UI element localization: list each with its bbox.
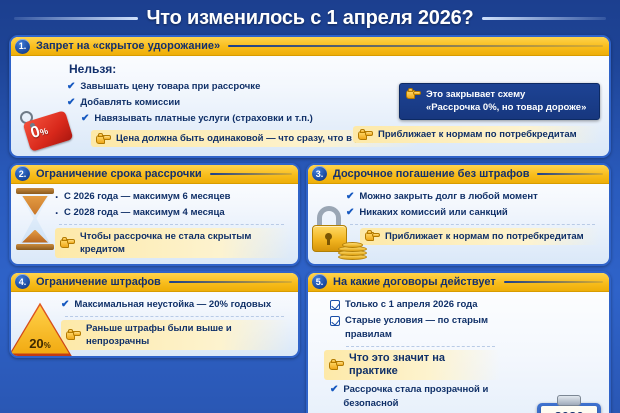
check-icon: ✔ (330, 383, 338, 397)
list-item-label: Максимальная неустойка — 20% годовых (74, 298, 290, 312)
check-icon: ✔ (346, 190, 354, 204)
section-4-divider (65, 316, 284, 317)
list-item: ✔ Можно закрыть долг в любой момент (346, 189, 601, 205)
section-2-tip: Чтобы рассрочка не стала скрытым кредито… (55, 228, 290, 258)
section-3-tip: Приближает к нормам по потребкредитам (360, 228, 600, 245)
section-3-divider (350, 224, 595, 225)
section-panel-5: 5. На какие договоры действует Только с … (306, 271, 611, 413)
page-title-bar: Что изменилось с 1 апреля 2026? (0, 2, 620, 35)
clipboard-year-label: 2026 (541, 409, 597, 413)
hourglass-icon (13, 188, 57, 250)
section-5-divider (346, 346, 495, 347)
section-body-1: Нельзя: ✔ Завышать цену товара при расср… (11, 56, 609, 156)
section-1-callout-tip: Приближает к нормам по потребкредитам (353, 126, 600, 143)
section-5-tip-label: Что это значит на практике (349, 352, 485, 378)
section-number-4: 4. (15, 274, 30, 289)
check-icon: ✔ (81, 112, 89, 126)
list-item-label: С 2028 года — максимум 4 месяца (64, 206, 290, 220)
section-title-5: На какие договоры действует (333, 276, 496, 288)
section-header-5: 5. На какие договоры действует (308, 273, 609, 292)
section-header-3: 3. Досрочное погашение без штрафов (308, 165, 609, 184)
list-item-label: Только с 1 апреля 2026 года (345, 298, 501, 312)
callout-text: Это закрывает схему «Рассрочка 0%, но то… (426, 88, 586, 114)
section-2-divider (59, 224, 284, 225)
section-1-lead: Нельзя: (69, 62, 601, 76)
pointing-hand-icon (60, 237, 75, 249)
section-3-tip-label: Приближает к нормам по потребкредитам (385, 230, 584, 243)
pointing-hand-icon (406, 88, 421, 100)
list-item: · С 2028 года — максимум 4 месяца (55, 205, 290, 221)
check-icon: ✔ (67, 96, 75, 110)
section-panel-3: 3. Досрочное погашение без штрафов ✔ Мо (306, 163, 611, 266)
callout-line-1: Это закрывает схему (426, 89, 525, 100)
section-number-1: 1. (15, 39, 30, 54)
section-5-tip: Что это значит на практике (324, 350, 501, 380)
section-4-tip-label: Раньше штрафы были выше и непрозрачны (86, 322, 274, 348)
section-number-3: 3. (312, 166, 327, 181)
section-number-2: 2. (15, 166, 30, 181)
row-3: 4. Ограничение штрафов 20% ✔ Максимальна… (9, 271, 611, 413)
row-2: 2. Ограничение срока рассрочки · С 2026 … (9, 163, 611, 266)
checkbox-icon (330, 300, 340, 310)
price-tag-icon: 0% (15, 108, 79, 154)
section-title-2: Ограничение срока рассрочки (36, 168, 202, 180)
row-1: 1. Запрет на «скрытое удорожание» Нельзя… (9, 35, 611, 158)
title-rule-right (482, 17, 606, 20)
section-header-2: 2. Ограничение срока рассрочки (11, 165, 298, 184)
section-title-3: Досрочное погашение без штрафов (333, 168, 529, 180)
list-item-label: Рассрочка стала прозрачной и безопасной (343, 383, 501, 411)
list-item-label: Старые условия — по старым правилам (345, 314, 501, 342)
section-body-5: Только с 1 апреля 2026 года Старые услов… (308, 292, 609, 413)
list-item: Старые условия — по старым правилам (330, 313, 501, 343)
section-rule-5 (504, 281, 603, 283)
section-4-tip: Раньше штрафы были выше и непрозрачны (61, 320, 290, 350)
list-item-label: С 2026 года — максимум 6 месяцев (64, 190, 290, 204)
pointing-hand-icon (329, 359, 344, 371)
section-header-1: 1. Запрет на «скрытое удорожание» (11, 37, 609, 56)
list-item: ✔ Рассрочка стала прозрачной и безопасно… (330, 382, 501, 412)
callout-line-2: «Рассрочка 0%, но товар дороже» (426, 101, 586, 114)
clipboard-paper: 2026 (541, 406, 597, 413)
title-rule-left (14, 17, 138, 20)
section-rule-2 (210, 173, 292, 175)
warning-unit: % (44, 341, 51, 350)
warning-value: 20 (29, 336, 43, 351)
section-rule-4 (169, 281, 292, 283)
clipboard-clamp (557, 395, 581, 406)
section-2-tip-label: Чтобы рассрочка не стала скрытым кредито… (80, 230, 274, 256)
pointing-hand-icon (358, 129, 373, 141)
price-tag-value: 0 (29, 123, 42, 142)
pointing-hand-icon (365, 230, 380, 242)
section-body-2: · С 2026 года — максимум 6 месяцев · С 2… (11, 184, 298, 264)
sections-grid: 1. Запрет на «скрытое удорожание» Нельзя… (0, 35, 620, 413)
section-rule-3 (537, 173, 603, 175)
section-1-callout: Это закрывает схему «Рассрочка 0%, но то… (399, 83, 600, 120)
list-item: ✔ Никаких комиссий или санкций (346, 205, 601, 221)
page-title: Что изменилось с 1 апреля 2026? (146, 7, 473, 30)
list-item: Только с 1 апреля 2026 года (330, 297, 501, 313)
section-body-3: ✔ Можно закрыть долг в любой момент ✔ Ни… (308, 184, 609, 254)
clipboard-chart-icon: 2026 (493, 399, 605, 413)
section-body-4: 20% ✔ Максимальная неустойка — 20% годов… (11, 292, 298, 356)
padlock-icon (310, 206, 368, 260)
list-item-label: Никаких комиссий или санкций (359, 206, 601, 220)
list-item: · С 2026 года — максимум 6 месяцев (55, 189, 290, 205)
list-item: ✔ Максимальная неустойка — 20% годовых (61, 297, 290, 313)
price-tag-unit: % (39, 125, 50, 137)
section-header-4: 4. Ограничение штрафов (11, 273, 298, 292)
check-icon: ✔ (67, 80, 75, 94)
section-title-4: Ограничение штрафов (36, 276, 161, 288)
section-panel-4: 4. Ограничение штрафов 20% ✔ Максимальна… (9, 271, 300, 358)
warning-triangle-icon: 20% (11, 305, 69, 355)
section-panel-2: 2. Ограничение срока рассрочки · С 2026 … (9, 163, 300, 266)
section-number-5: 5. (312, 274, 327, 289)
section-panel-1: 1. Запрет на «скрытое удорожание» Нельзя… (9, 35, 611, 158)
section-1-callout-tip-label: Приближает к нормам по потребкредитам (378, 128, 577, 141)
checkbox-icon (330, 316, 340, 326)
coins-icon (338, 240, 368, 260)
list-item-label: Можно закрыть долг в любой момент (359, 190, 601, 204)
pointing-hand-icon (96, 133, 111, 145)
section-rule-1 (228, 45, 603, 47)
section-title-1: Запрет на «скрытое удорожание» (36, 40, 220, 52)
